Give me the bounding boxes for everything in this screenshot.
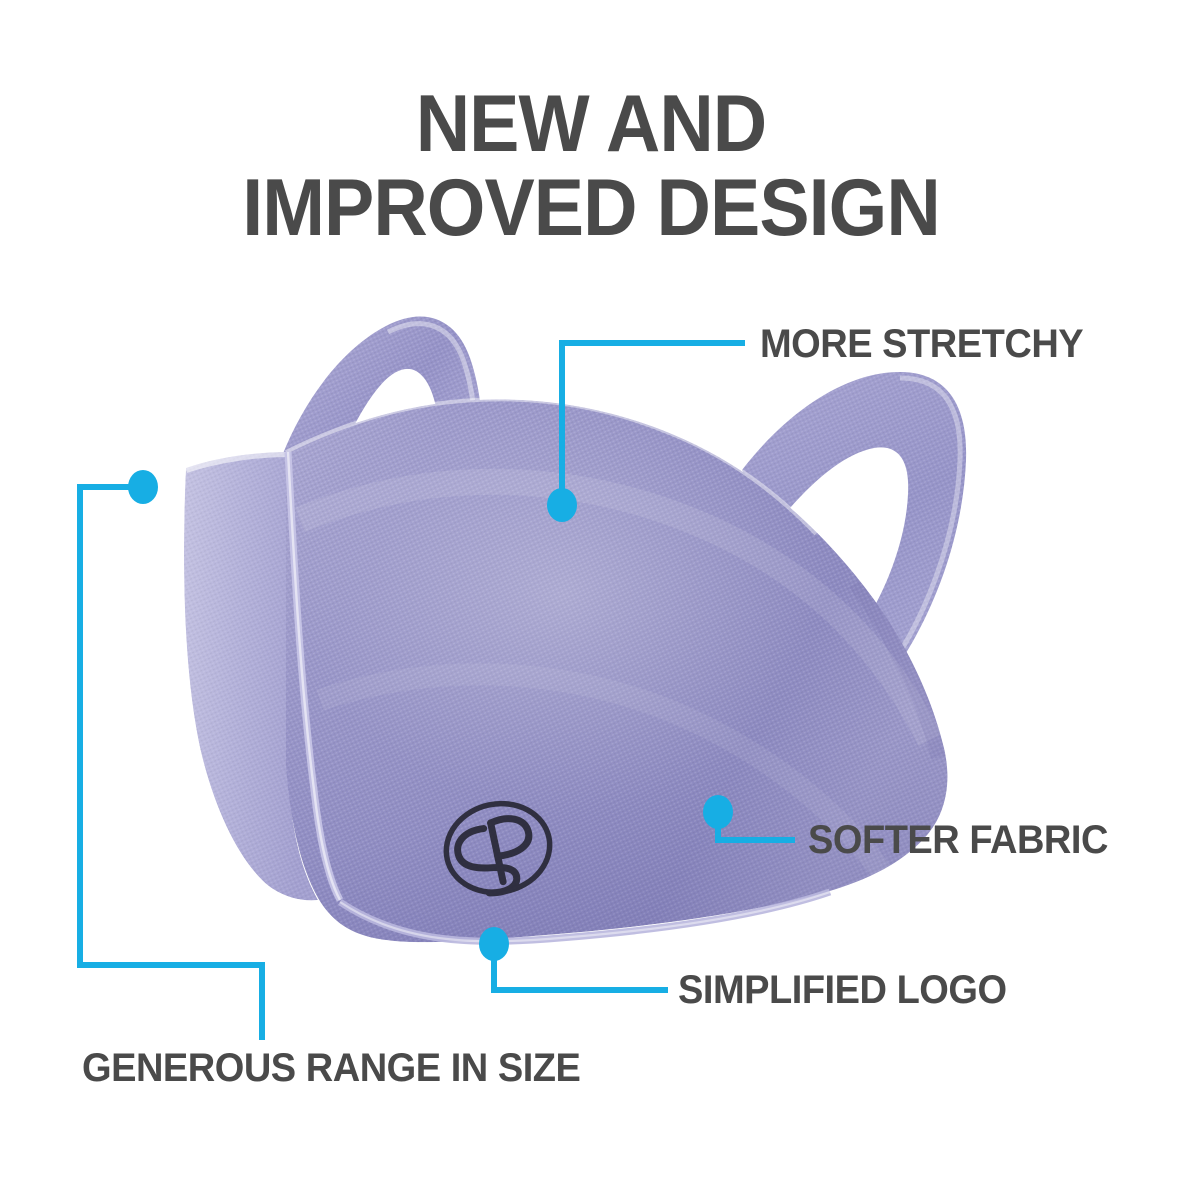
callout-leader-line — [494, 944, 668, 990]
callout-dot[interactable] — [479, 927, 509, 961]
page-title: NEW AND IMPROVED DESIGN — [41, 82, 1140, 250]
callout-label-generous-range-in-size: GENEROUS RANGE IN SIZE — [82, 1046, 580, 1091]
callout-dot[interactable] — [128, 470, 158, 504]
callout-label-more-stretchy: MORE STRETCHY — [760, 322, 1083, 367]
callout-label-softer-fabric: SOFTER FABRIC — [808, 818, 1108, 863]
callout-dot[interactable] — [703, 795, 733, 829]
page-title-line-1: NEW AND — [41, 82, 1140, 166]
callout-label-simplified-logo: SIMPLIFIED LOGO — [678, 968, 1007, 1013]
page-title-line-2: IMPROVED DESIGN — [41, 166, 1140, 250]
callout-dot[interactable] — [547, 488, 577, 522]
mask-body — [270, 390, 970, 960]
infographic-canvas: NEW AND IMPROVED DESIGN — [0, 0, 1182, 1183]
